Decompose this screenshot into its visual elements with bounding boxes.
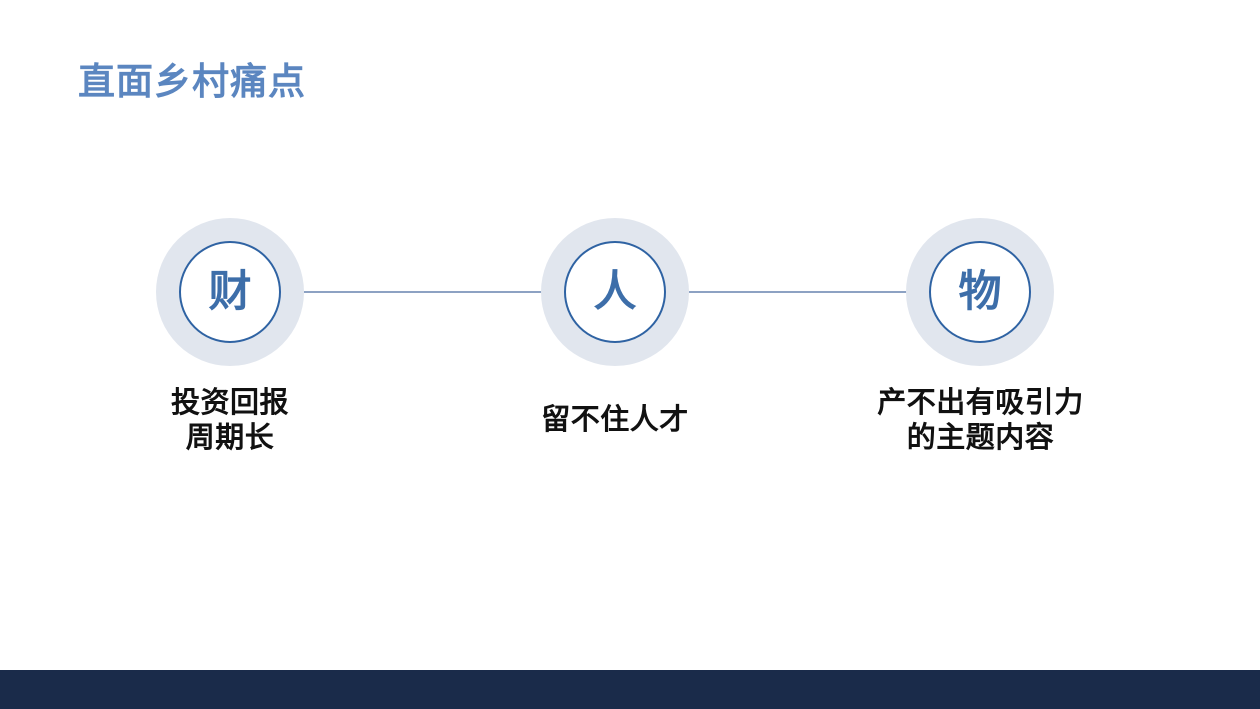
node-wu-circle: 物	[929, 241, 1031, 343]
node-cai[interactable]: 财	[156, 218, 304, 366]
node-ren-circle: 人	[564, 241, 666, 343]
node-ren-label: 留不住人才	[465, 403, 765, 438]
node-cai-label: 投资回报 周期长	[80, 386, 380, 457]
bottom-accent-bar	[0, 670, 1260, 709]
node-wu-char: 物	[959, 271, 1002, 314]
node-ren[interactable]: 人	[541, 218, 689, 366]
node-wu[interactable]: 物	[906, 218, 1054, 366]
node-ren-char: 人	[594, 271, 637, 314]
node-wu-label: 产不出有吸引力 的主题内容	[823, 386, 1138, 457]
slide-canvas: 直面乡村痛点 财 人 物 投资回报 周期长 留不住人才 产不出有吸引力 的主题内…	[0, 0, 1260, 709]
node-cai-circle: 财	[179, 241, 281, 343]
node-cai-char: 财	[209, 271, 252, 314]
pain-point-diagram: 财 人 物 投资回报 周期长 留不住人才 产不出有吸引力 的主题内容	[0, 0, 1260, 480]
caption-row: 乡村的发展，过去的最大的问题是严重依赖传统引流的方式，加上投资回报周期长、留不住…	[0, 520, 1260, 616]
